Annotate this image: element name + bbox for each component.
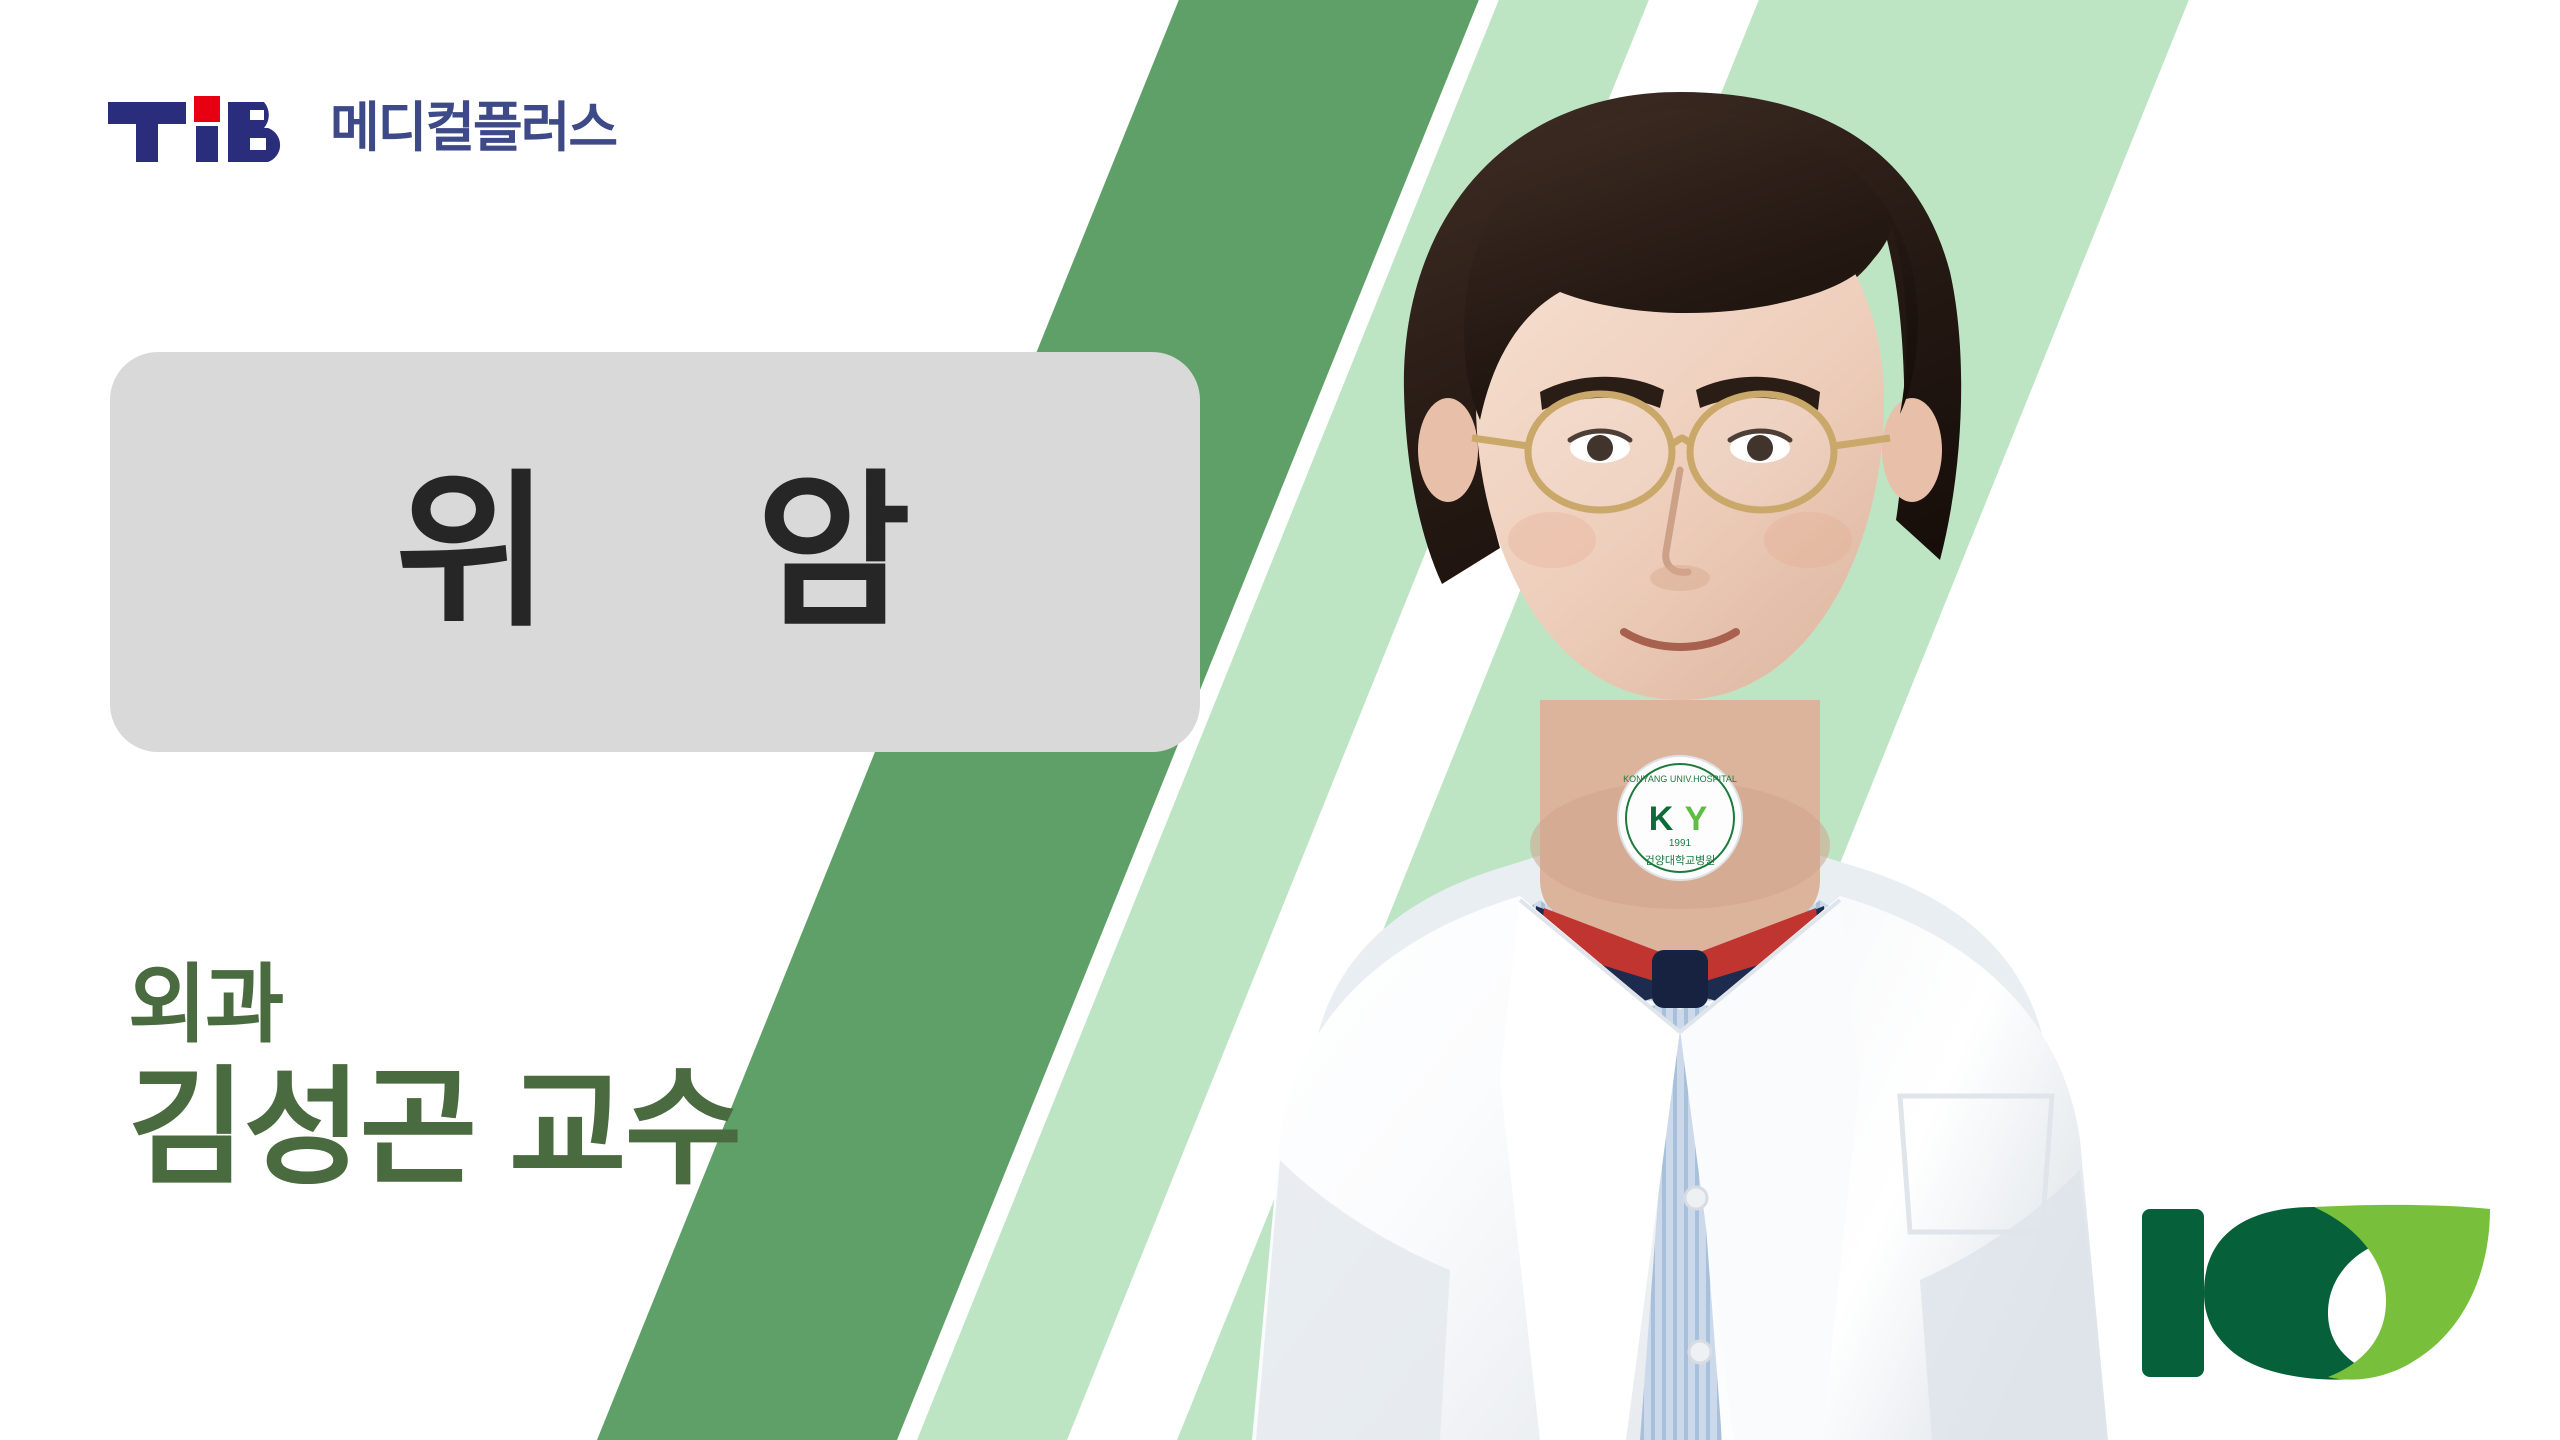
hospital-badge-icon: KONYANG UNIV.HOSPITAL K Y 1991 건양대학교병원 xyxy=(1618,756,1742,880)
brand-bar: 메디컬플러스 xyxy=(108,88,616,167)
speaker-name: 김성곤 교수 xyxy=(128,1060,740,1198)
ky-logo-icon xyxy=(2138,1203,2494,1388)
tjb-logo-icon xyxy=(108,88,294,167)
topic-title: 위 암 xyxy=(395,468,915,636)
svg-text:K: K xyxy=(1649,800,1674,838)
speaker-block: 외과 김성곤 교수 xyxy=(128,960,740,1199)
svg-text:Y: Y xyxy=(1685,800,1708,838)
topic-pill: 위 암 xyxy=(110,352,1200,752)
program-name: 메디컬플러스 xyxy=(330,101,616,155)
svg-text:건양대학교병원: 건양대학교병원 xyxy=(1645,854,1716,867)
title-card: KONYANG UNIV.HOSPITAL K Y 1991 건양대학교병원 xyxy=(0,0,2560,1440)
svg-text:KONYANG UNIV.HOSPITAL: KONYANG UNIV.HOSPITAL xyxy=(1623,774,1737,784)
department-label: 외과 xyxy=(128,960,740,1050)
svg-text:1991: 1991 xyxy=(1669,838,1692,849)
